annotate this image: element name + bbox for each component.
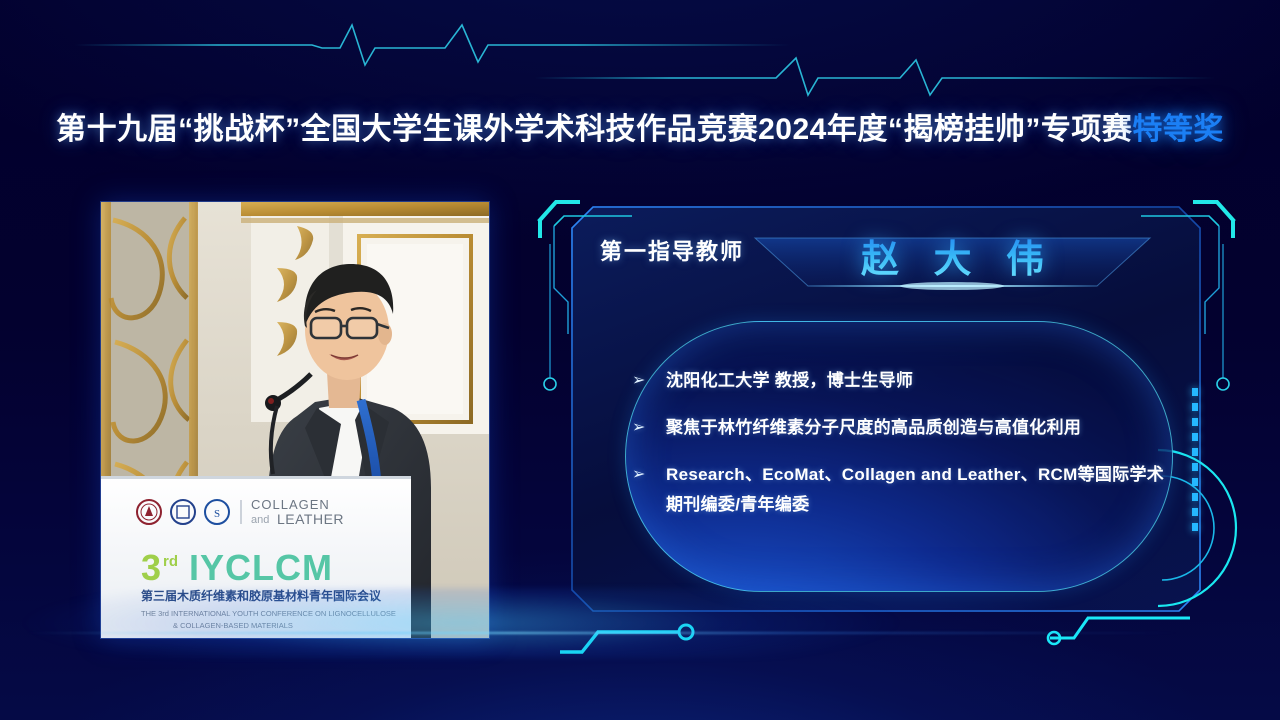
list-item: ➢ 聚焦于林竹纤维素分子尺度的高品质创造与高值化利用 bbox=[632, 413, 1177, 443]
heartbeat-path-2 bbox=[535, 58, 1215, 95]
heartbeat-line-decoration bbox=[0, 0, 1280, 120]
chevron-bullet-icon: ➢ bbox=[632, 366, 666, 396]
list-item-label: 聚焦于林竹纤维素分子尺度的高品质创造与高值化利用 bbox=[666, 413, 1177, 443]
list-item-label: 沈阳化工大学 教授，博士生导师 bbox=[666, 366, 1177, 396]
dashed-accent-bar bbox=[1192, 388, 1198, 538]
grid-dots bbox=[0, 711, 1280, 720]
chevron-bullet-icon: ➢ bbox=[632, 460, 666, 490]
heartbeat-path-1 bbox=[75, 25, 790, 65]
list-item: ➢ Research、EcoMat、Collagen and Leather、R… bbox=[632, 460, 1177, 520]
instructor-name: 赵 大 伟 bbox=[745, 228, 1160, 283]
bullet-list: ➢ 沈阳化工大学 教授，博士生导师 ➢ 聚焦于林竹纤维素分子尺度的高品质创造与高… bbox=[632, 366, 1177, 537]
slide-title: 第十九届“挑战杯”全国大学生课外学术科技作品竞赛2024年度“揭榜挂帅”专项赛特… bbox=[0, 104, 1280, 148]
chevron-bullet-icon: ➢ bbox=[632, 413, 666, 443]
floor-ridge-line bbox=[0, 632, 1280, 634]
perspective-grid-floor bbox=[0, 520, 1280, 720]
title-main-text: 第十九届“挑战杯”全国大学生课外学术科技作品竞赛2024年度“揭榜挂帅”专项赛 bbox=[56, 113, 1132, 146]
role-label: 第一指导教师 bbox=[600, 234, 744, 266]
svg-text:S: S bbox=[214, 508, 220, 520]
floor-glow bbox=[0, 588, 1280, 658]
slide-canvas: 第十九届“挑战杯”全国大学生课外学术科技作品竞赛2024年度“揭榜挂帅”专项赛特… bbox=[0, 0, 1280, 720]
list-item: ➢ 沈阳化工大学 教授，博士生导师 bbox=[632, 366, 1177, 396]
list-item-label: Research、EcoMat、Collagen and Leather、RCM… bbox=[666, 460, 1177, 520]
svg-text:COLLAGEN: COLLAGEN bbox=[251, 497, 330, 512]
title-accent-text: 特等奖 bbox=[1132, 113, 1224, 146]
